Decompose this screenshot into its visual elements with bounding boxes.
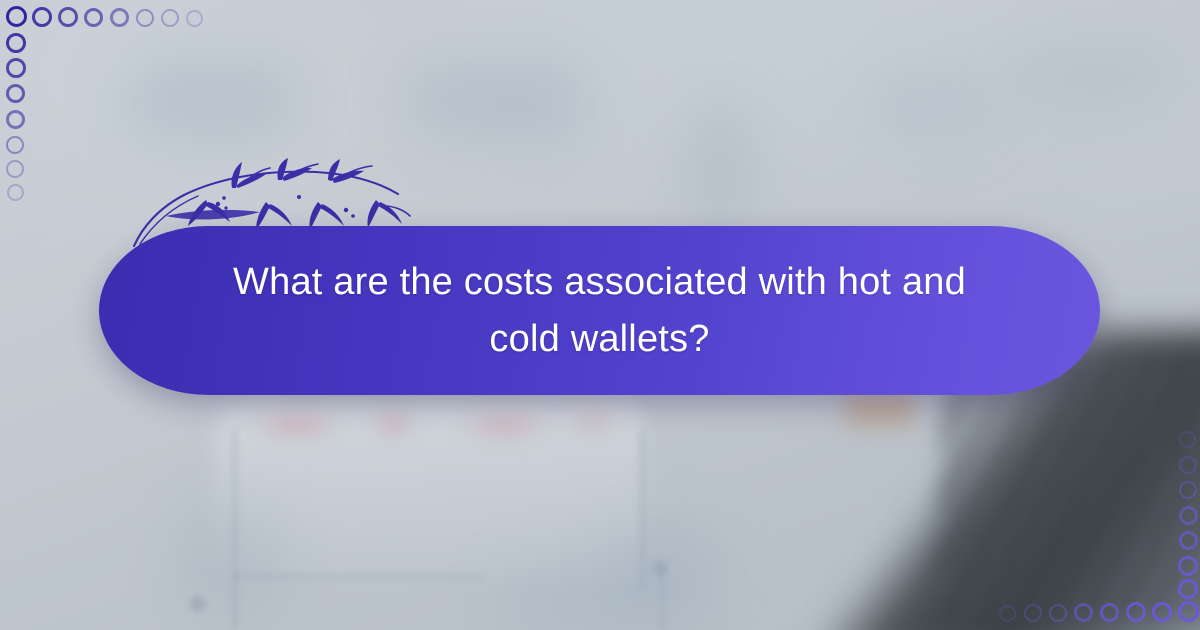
decorative-ring-dot [1049, 604, 1067, 622]
question-pill: What are the costs associated with hot a… [99, 226, 1100, 395]
decorative-ring-dot [32, 7, 52, 27]
decorative-ring-dot [186, 10, 203, 27]
decorative-ring-dot [58, 7, 78, 27]
background-pink-highlight [225, 398, 625, 454]
background-blur-blob [170, 500, 290, 620]
decorative-ring-dot [136, 9, 154, 27]
decorative-ring-dot [1178, 556, 1198, 576]
decorative-ring-dot [6, 136, 24, 154]
decorative-ring-dot [1178, 601, 1199, 622]
decorative-ring-dot [1179, 506, 1198, 525]
background-blur-blob [600, 520, 720, 610]
decorative-ring-dot [6, 84, 25, 103]
question-card-slide: What are the costs associated with hot a… [0, 0, 1200, 630]
background-blur-blob [120, 55, 300, 145]
decorative-ring-dot [1179, 456, 1197, 474]
decorative-ring-dot [1152, 602, 1172, 622]
decorative-ring-dot [1179, 481, 1197, 499]
question-text: What are the costs associated with hot a… [220, 254, 980, 368]
background-blur-blob [690, 100, 750, 230]
decorative-ring-dot [1179, 531, 1198, 550]
decorative-ring-dot [1126, 602, 1146, 622]
background-blur-blob [520, 58, 590, 148]
decorative-ring-dot [1179, 431, 1196, 448]
decorative-ring-dot [6, 33, 26, 53]
decorative-ring-dot [1100, 603, 1119, 622]
decorative-ring-dot [999, 605, 1016, 622]
decorative-ring-dot [161, 9, 179, 27]
decorative-ring-dot [6, 58, 26, 78]
decorative-ring-dot [6, 110, 25, 129]
background-blur-blob [1000, 40, 1170, 110]
decorative-ring-dot [6, 6, 27, 27]
decorative-ring-dot [84, 8, 103, 27]
decorative-ring-dot [1024, 604, 1042, 622]
decorative-ring-dot [6, 160, 24, 178]
decorative-ring-dot [1074, 603, 1093, 622]
background-dark-object-texture [940, 360, 1200, 620]
decorative-ring-dot [110, 8, 129, 27]
background-blur-blob [870, 70, 990, 140]
decorative-ring-dot [1178, 579, 1198, 599]
decorative-ring-dot [7, 184, 24, 201]
